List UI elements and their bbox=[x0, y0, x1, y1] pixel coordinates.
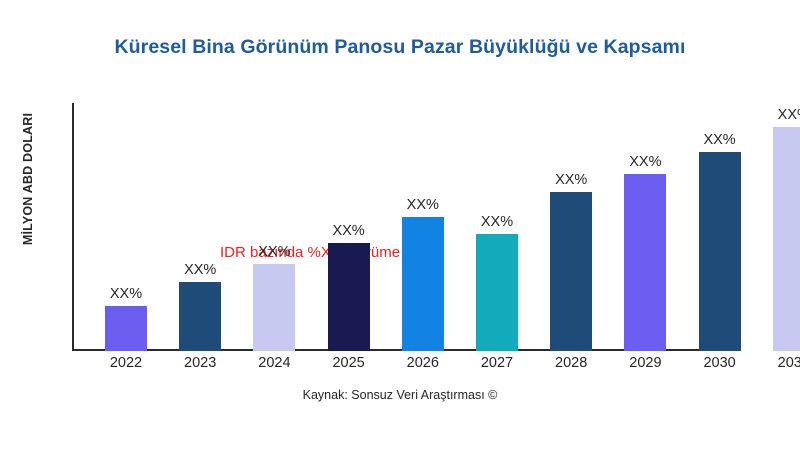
x-tick-2030: 2030 bbox=[690, 355, 750, 371]
x-tick-2022: 2022 bbox=[96, 355, 156, 371]
x-tick-2025: 2025 bbox=[319, 355, 379, 371]
bar-rect[interactable] bbox=[402, 217, 444, 351]
bar-rect[interactable] bbox=[624, 174, 666, 351]
bar-rect[interactable] bbox=[328, 243, 370, 351]
x-tick-2029: 2029 bbox=[615, 355, 675, 371]
x-tick-2028: 2028 bbox=[541, 355, 601, 371]
y-axis-line bbox=[72, 103, 74, 351]
bar-chart: Küresel Bina Görünüm Panosu Pazar Büyükl… bbox=[0, 0, 800, 450]
bar-rect[interactable] bbox=[476, 234, 518, 351]
x-axis-tick-labels: 2022202320242025202620272028202920302031 bbox=[72, 355, 784, 379]
y-axis-title: MİLYON ABD DOLARI bbox=[21, 69, 35, 289]
bar-value-label: XX% bbox=[778, 107, 800, 123]
bar-rect[interactable] bbox=[105, 306, 147, 351]
x-tick-2027: 2027 bbox=[467, 355, 527, 371]
bar-value-label: XX% bbox=[110, 286, 142, 302]
chart-title: Küresel Bina Görünüm Panosu Pazar Büyükl… bbox=[0, 36, 800, 59]
bar-value-label: XX% bbox=[332, 223, 364, 239]
bar-value-label: XX% bbox=[555, 172, 587, 188]
bar-rect[interactable] bbox=[179, 282, 221, 351]
x-tick-2023: 2023 bbox=[170, 355, 230, 371]
bar-value-label: XX% bbox=[258, 244, 290, 260]
bar-value-label: XX% bbox=[629, 154, 661, 170]
bar-value-label: XX% bbox=[407, 197, 439, 213]
x-tick-2026: 2026 bbox=[393, 355, 453, 371]
bar-rect[interactable] bbox=[550, 192, 592, 351]
x-tick-2024: 2024 bbox=[244, 355, 304, 371]
source-note: Kaynak: Sonsuz Veri Araştırması © bbox=[0, 388, 800, 402]
bar-value-label: XX% bbox=[481, 214, 513, 230]
plot-area: IDR bazında %XX Büyüme Oranı XX%XX%XX%XX… bbox=[72, 103, 784, 351]
bar-value-label: XX% bbox=[184, 262, 216, 278]
bar-value-label: XX% bbox=[703, 132, 735, 148]
bar-rect[interactable] bbox=[699, 152, 741, 351]
x-tick-2031: 2031 bbox=[764, 355, 800, 371]
bar-rect[interactable] bbox=[253, 264, 295, 351]
bar-rect[interactable] bbox=[773, 127, 800, 351]
